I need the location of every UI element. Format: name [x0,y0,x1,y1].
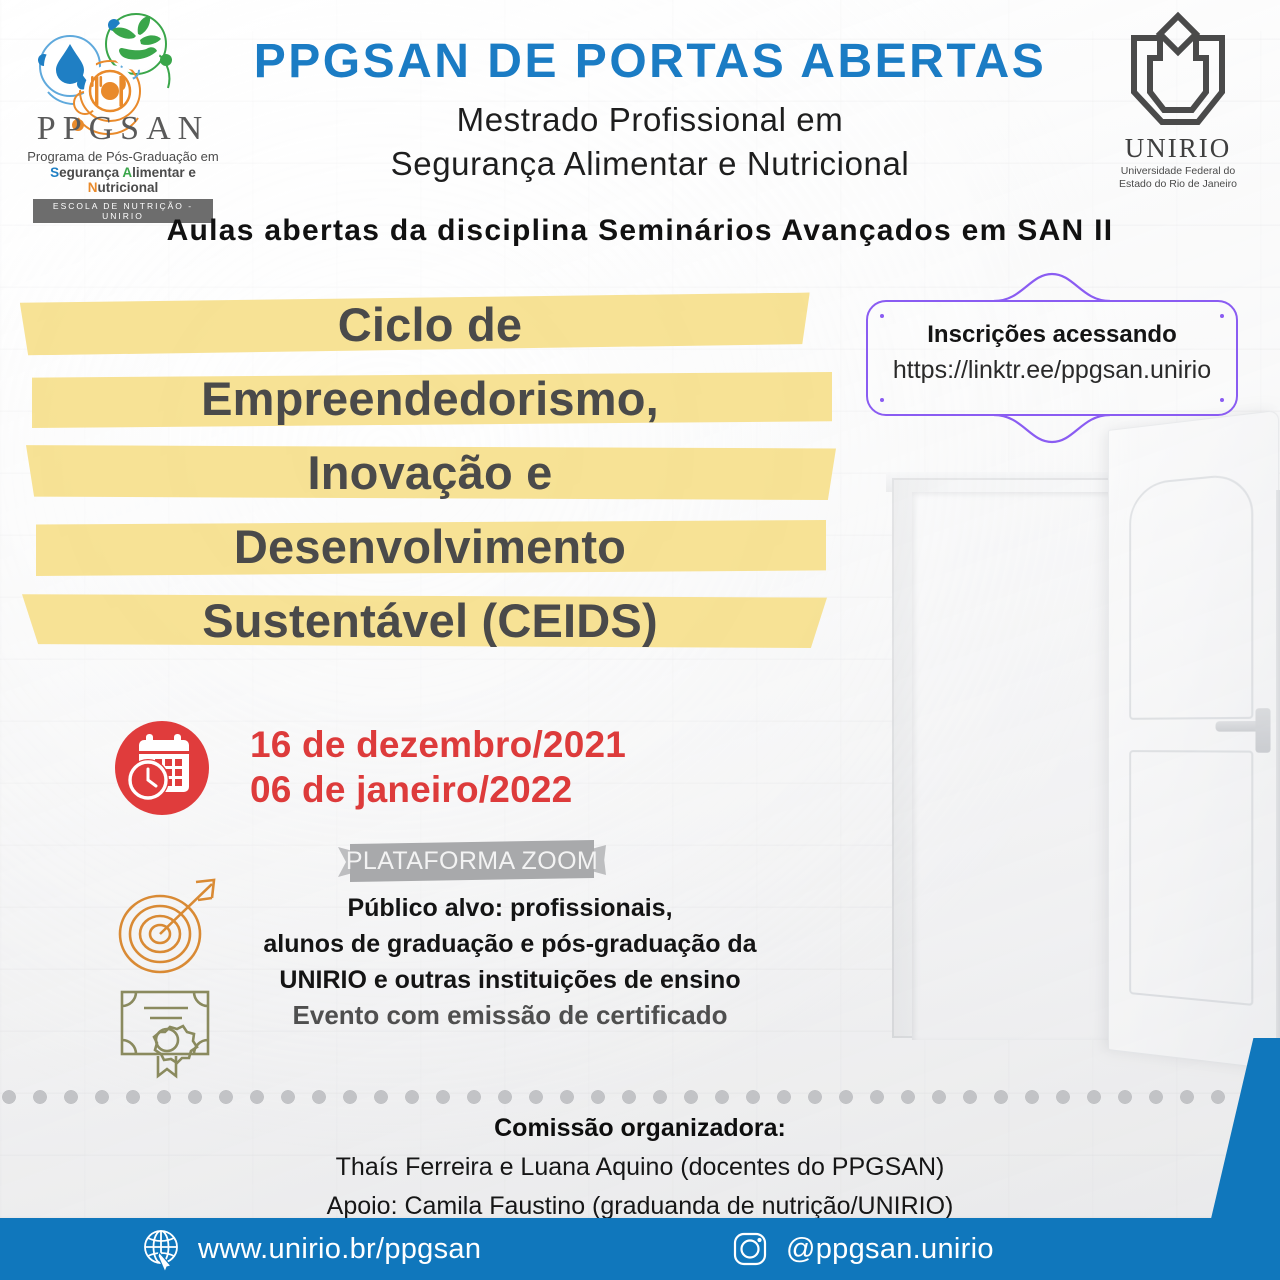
poster-canvas: PPGSAN Programa de Pós-Graduação em Segu… [0,0,1280,1280]
unirio-sub-2: Estado do Rio de Janeiro [1098,178,1258,191]
audience-line-2: alunos de graduação e pós-graduação da [200,926,820,962]
committee-line-1: Thaís Ferreira e Luana Aquino (docentes … [0,1148,1280,1187]
course-banner: Aulas abertas da disciplina Seminários A… [0,214,1280,248]
organizing-committee: Comissão organizadora: Thaís Ferreira e … [0,1108,1280,1226]
certificate-note: Evento com emissão de certificado [200,1000,820,1031]
headline-row: Empreendedorismo, [0,362,860,436]
door-panel [1108,410,1279,1071]
unirio-sub-1: Universidade Federal do [1098,165,1258,178]
calendar-clock-icon [112,718,212,818]
platform-ribbon: PLATAFORMA ZOOM [338,840,606,882]
corner-dot [880,398,884,402]
ppgsan-logo: PPGSAN Programa de Pós-Graduação em Segu… [18,8,228,186]
globe-cursor-icon [142,1227,182,1271]
unirio-logo: UNIRIO Universidade Federal do Estado do… [1098,8,1258,183]
footer-bar: www.unirio.br/ppgsan @ppgsan.unirio [0,1218,1280,1280]
corner-dot [1220,398,1224,402]
registration-url[interactable]: https://linktr.ee/ppgsan.unirio [868,356,1236,385]
instagram-label: @ppgsan.unirio [786,1233,994,1266]
event-dates: 16 de dezembro/2021 06 de janeiro/2022 [250,722,770,812]
headline-line-5: Sustentável (CEIDS) [0,584,860,658]
ppgsan-tagline-2: Segurança Alimentar e Nutricional [18,165,228,195]
tagline-s: S [50,165,59,180]
headline-row: Desenvolvimento [0,510,860,584]
audience-line-1: Público alvo: profissionais, [200,890,820,926]
curly-bracket-bottom-icon [992,414,1112,444]
page-title: PPGSAN DE PORTAS ABERTAS [230,34,1070,89]
registration-callout[interactable]: Inscrições acessando https://linktr.ee/p… [866,300,1238,416]
headline-line-1: Ciclo de [0,288,860,362]
date-line-2: 06 de janeiro/2022 [250,767,770,812]
website-label: www.unirio.br/ppgsan [198,1233,481,1266]
headline-row: Sustentável (CEIDS) [0,584,860,658]
unirio-emblem-icon [1098,8,1258,128]
committee-heading: Comissão organizadora: [0,1108,1280,1148]
instagram-icon [730,1227,770,1271]
door-lock-plate-icon [1255,708,1270,753]
headline-line-3: Inovação e [0,436,860,510]
registration-title: Inscrições acessando [868,321,1236,349]
doorway-opening [912,492,1118,1040]
ppgsan-tagline-1: Programa de Pós-Graduação em [18,149,228,164]
subtitle-line-2: Segurança Alimentar e Nutricional [230,142,1070,186]
audience-line-3: UNIRIO e outras instituições de ensino [200,962,820,998]
platform-label: PLATAFORMA ZOOM [338,847,606,876]
tagline-a: A [122,165,132,180]
instagram-link[interactable]: @ppgsan.unirio [730,1218,994,1280]
door-edge [1276,490,1280,1050]
ppgsan-acronym: PPGSAN [18,112,228,146]
program-subtitle: Mestrado Profissional em Segurança Alime… [230,98,1070,185]
headline-line-4: Desenvolvimento [0,510,860,584]
corner-dot [880,314,884,318]
audience-info: Público alvo: profissionais, alunos de g… [200,890,820,998]
curly-bracket-top-icon [992,272,1112,302]
unirio-wordmark: UNIRIO [1098,135,1258,162]
tagline-utricional: utricional [97,180,158,195]
headline-row: Inovação e [0,436,860,510]
subtitle-line-1: Mestrado Profissional em [230,98,1070,142]
headline-line-2: Empreendedorismo, [0,362,860,436]
corner-dot [1220,314,1224,318]
headline-row: Ciclo de [0,288,860,362]
tagline-egurança: egurança [59,165,122,180]
event-headline: Ciclo de Empreendedorismo, Inovação e De… [0,288,860,658]
tagline-limentar: limentar e [132,165,196,180]
website-link[interactable]: www.unirio.br/ppgsan [142,1218,481,1280]
dotted-divider [0,1087,1280,1107]
open-door-illustration [850,420,1280,1100]
date-line-1: 16 de dezembro/2021 [250,722,770,767]
